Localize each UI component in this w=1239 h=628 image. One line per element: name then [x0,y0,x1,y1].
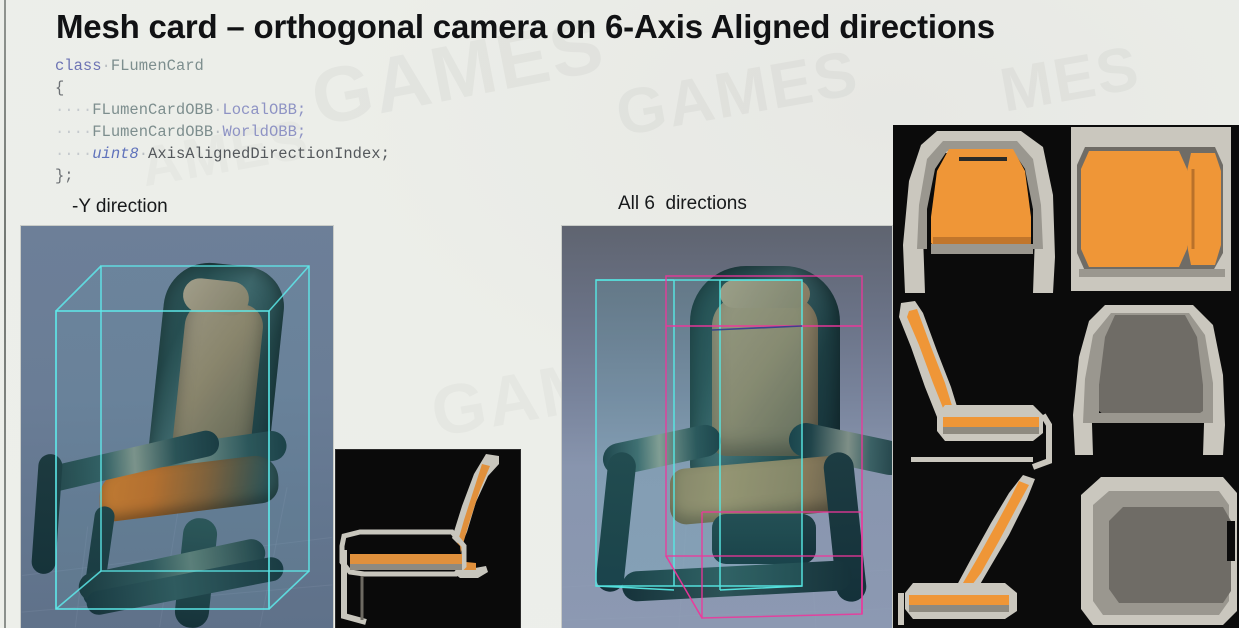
chair-mesh [592,266,882,626]
code-token: FLumenCardOBB [92,123,213,141]
slide-canvas: GAMES GAMES MES GAMES AMES Mesh card – o… [0,0,1239,628]
code-token: class [55,57,102,75]
code-line: ····uint8·AxisAlignedDirectionIndex; [55,143,390,165]
chair-mesh [29,256,319,626]
code-line: class·FLumenCard [55,55,390,77]
atlas-cell-6 [1071,473,1239,628]
code-token: uint8 [92,145,139,163]
code-token: LocalOBB; [222,101,306,119]
code-line: ····FLumenCardOBB·LocalOBB; [55,99,390,121]
code-token: }; [55,167,74,185]
code-line: }; [55,165,390,187]
all-six-directions-viewport[interactable] [562,226,892,628]
atlas-cell-3 [897,301,1061,467]
watermark-text: MES [995,32,1146,126]
code-token: { [55,79,64,97]
minus-y-direction-viewport[interactable] [21,226,333,628]
code-token: · [139,145,148,163]
code-line: ····FLumenCardOBB·WorldOBB; [55,121,390,143]
slide-title: Mesh card – orthogonal camera on 6-Axis … [56,6,995,48]
code-token: FLumenCardOBB [92,101,213,119]
card-atlas-canvas [893,125,1239,628]
card-profile-silhouette [336,450,520,628]
code-token: WorldOBB; [222,123,306,141]
atlas-cell-2 [1071,127,1235,295]
code-block: class·FLumenCard{····FLumenCardOBB·Local… [55,55,390,187]
atlas-cell-4 [1071,301,1235,465]
surface-cache-card-preview[interactable] [336,450,520,628]
code-line: { [55,77,390,99]
caption-all-six-directions: All 6 directions [618,193,747,215]
code-token: ···· [55,123,92,141]
watermark-text: GAMES [610,35,864,150]
atlas-cell-1 [897,127,1061,295]
six-direction-card-atlas[interactable] [893,125,1239,628]
code-token: AxisAlignedDirectionIndex; [148,145,390,163]
code-token: · [102,57,111,75]
caption-minus-y-direction: -Y direction [72,196,168,218]
code-token: ···· [55,101,92,119]
atlas-cell-5 [897,473,1061,625]
code-token: ···· [55,145,92,163]
code-token: FLumenCard [111,57,204,75]
slide-left-rule [4,0,6,628]
